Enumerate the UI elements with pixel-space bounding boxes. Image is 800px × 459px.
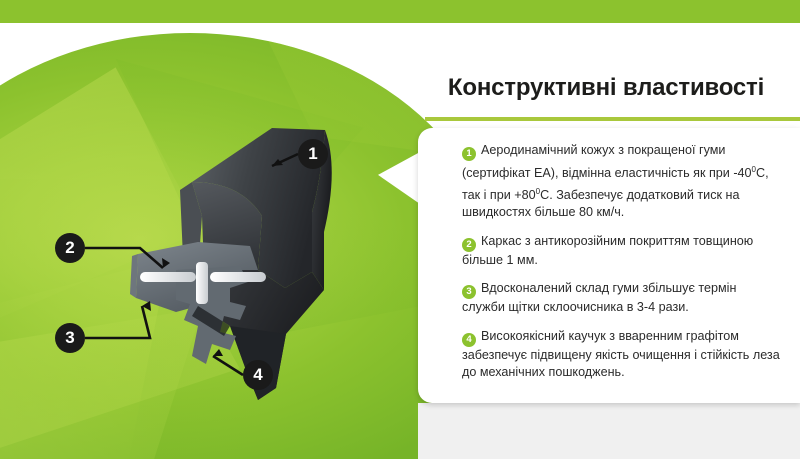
callout-marker-1[interactable]: 1	[298, 139, 328, 169]
feature-item-2: 2Каркас з антикорозійним покриттям товщи…	[462, 233, 782, 270]
feature-list: 1Аеродинамічний кожух з покращеної гуми …	[462, 142, 782, 393]
metal-strip-left	[140, 272, 196, 282]
feature-text-3: Вдосконалений склад гуми збільшує термін…	[462, 281, 736, 314]
page-title: Конструктивні властивості	[420, 74, 792, 102]
feature-number-1: 1	[462, 147, 476, 161]
wiper-blade-cross-section-illustration	[80, 120, 380, 400]
feature-text-1a: Аеродинамічний кожух з покращеної гуми (…	[462, 143, 752, 180]
infographic-slide: 1 2 3 4 Конструктивні властивості 1Аерод…	[0, 0, 800, 459]
callout-marker-4[interactable]: 4	[243, 360, 273, 390]
feature-item-1: 1Аеродинамічний кожух з покращеної гуми …	[462, 142, 782, 222]
callout-marker-2[interactable]: 2	[55, 233, 85, 263]
metal-strip-center	[196, 262, 208, 304]
feature-item-4: 4Високоякісний каучук з вваренним графіт…	[462, 328, 782, 382]
bottom-strip	[418, 403, 800, 459]
feature-number-4: 4	[462, 333, 476, 347]
feature-number-3: 3	[462, 285, 476, 299]
title-divider	[425, 117, 800, 121]
metal-strip-right	[210, 272, 266, 282]
feature-text-4: Високоякісний каучук з вваренним графіто…	[462, 329, 780, 380]
feature-text-2: Каркас з антикорозійним покриттям товщин…	[462, 234, 753, 267]
feature-number-2: 2	[462, 238, 476, 252]
callout-marker-3[interactable]: 3	[55, 323, 85, 353]
top-green-bar	[0, 0, 800, 23]
feature-item-3: 3Вдосконалений склад гуми збільшує термі…	[462, 280, 782, 317]
